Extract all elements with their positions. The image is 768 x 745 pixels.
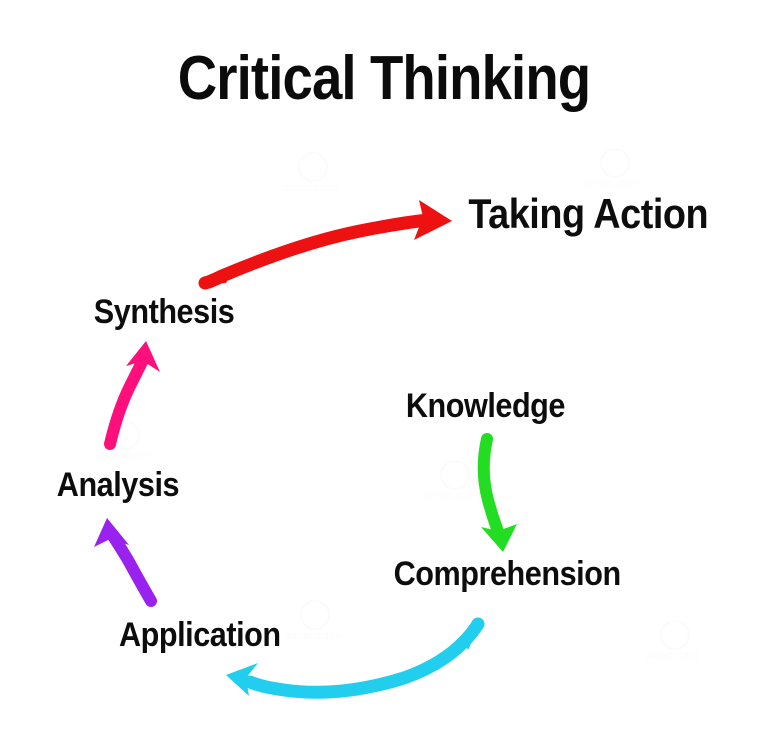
- node-label-synthesis: Synthesis: [94, 295, 235, 329]
- node-label-knowledge: Knowledge: [406, 389, 565, 423]
- arrow-green-shaft: [484, 439, 500, 536]
- node-label-application: Application: [119, 618, 281, 652]
- arrow-pink-shaft: [110, 356, 145, 444]
- arrow-purple-shaft: [110, 532, 151, 601]
- node-label-taking-action: Taking Action: [468, 193, 708, 235]
- node-label-analysis: Analysis: [57, 468, 179, 502]
- page-title: Critical Thinking: [46, 48, 722, 110]
- arrow-synthesis-to-taking-action: [203, 200, 452, 284]
- diagram-canvas: dreamstime dreamstime dreamstime dreamst…: [0, 0, 768, 745]
- arrow-cyan-shaft: [250, 624, 478, 692]
- node-label-comprehension: Comprehension: [394, 557, 621, 591]
- arrow-red-shaft: [205, 220, 428, 283]
- arrow-knowledge-to-comprehension: [481, 439, 517, 552]
- arrow-application-to-analysis: [94, 518, 151, 601]
- arrow-analysis-to-synthesis: [110, 341, 160, 444]
